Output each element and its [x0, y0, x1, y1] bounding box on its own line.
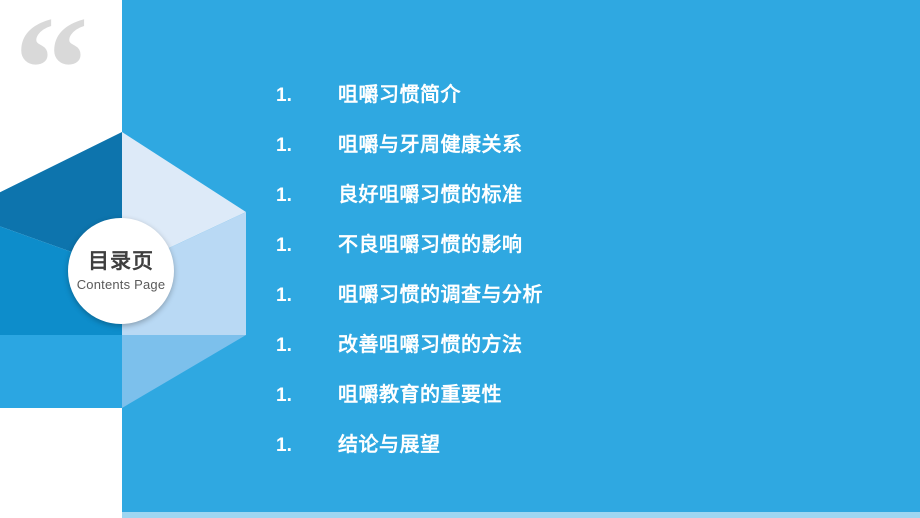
list-item-label: 不良咀嚼习惯的影响	[338, 228, 523, 257]
list-item-number: 1.	[276, 385, 338, 407]
list-item-label: 咀嚼与牙周健康关系	[338, 128, 523, 157]
list-item-label: 咀嚼习惯简介	[338, 78, 461, 107]
list-item-number: 1.	[276, 235, 338, 257]
list-item-label: 咀嚼习惯的调查与分析	[338, 278, 543, 307]
list-item-number: 1.	[276, 435, 338, 457]
list-item[interactable]: 1. 咀嚼与牙周健康关系	[276, 128, 876, 178]
list-item-number: 1.	[276, 335, 338, 357]
list-item[interactable]: 1. 改善咀嚼习惯的方法	[276, 328, 876, 378]
list-item[interactable]: 1. 咀嚼习惯简介	[276, 78, 876, 128]
list-item-label: 咀嚼教育的重要性	[338, 378, 502, 407]
list-item[interactable]: 1. 良好咀嚼习惯的标准	[276, 178, 876, 228]
list-item-label: 改善咀嚼习惯的方法	[338, 328, 523, 357]
slide-contents-page: “ 目录页 Contents Page 1. 咀嚼习惯简介 1. 咀嚼与牙周健康…	[0, 0, 920, 518]
hex-facet-bottom-left	[0, 335, 122, 408]
list-item-label: 良好咀嚼习惯的标准	[338, 178, 523, 207]
contents-list: 1. 咀嚼习惯简介 1. 咀嚼与牙周健康关系 1. 良好咀嚼习惯的标准 1. 不…	[276, 78, 876, 478]
list-item-number: 1.	[276, 285, 338, 307]
hex-facet-bottom-right	[122, 335, 246, 408]
badge-title-en: Contents Page	[77, 277, 166, 292]
badge-title-cn: 目录页	[88, 250, 154, 274]
list-item-number: 1.	[276, 135, 338, 157]
list-item[interactable]: 1. 不良咀嚼习惯的影响	[276, 228, 876, 278]
list-item-label: 结论与展望	[338, 428, 441, 457]
list-item[interactable]: 1. 咀嚼教育的重要性	[276, 378, 876, 428]
contents-badge: 目录页 Contents Page	[68, 218, 174, 324]
list-item-number: 1.	[276, 85, 338, 107]
list-item-number: 1.	[276, 185, 338, 207]
bottom-accent-strip	[122, 512, 920, 518]
list-item[interactable]: 1. 结论与展望	[276, 428, 876, 478]
list-item[interactable]: 1. 咀嚼习惯的调查与分析	[276, 278, 876, 328]
